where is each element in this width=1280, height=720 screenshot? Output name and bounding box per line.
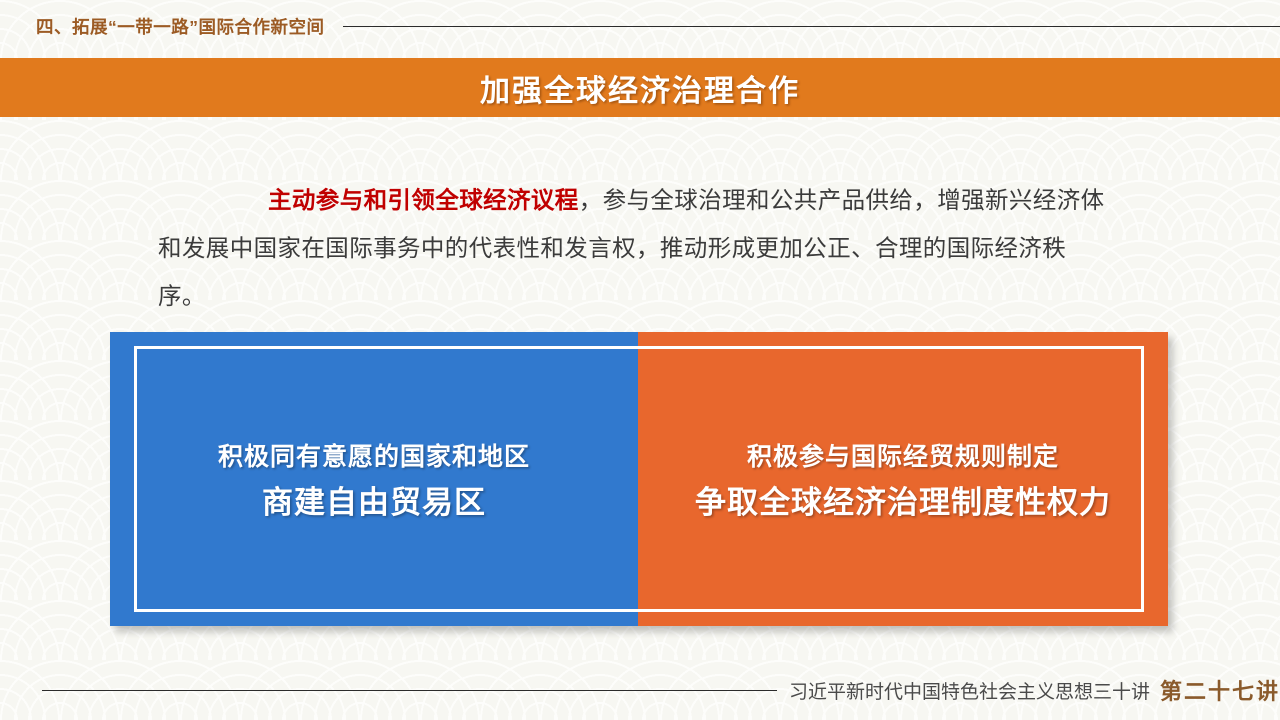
panel-left-headline: 商建自由贸易区 bbox=[262, 477, 486, 522]
page-title: 加强全球经济治理合作 bbox=[480, 66, 800, 110]
key-points-banner: 积极同有意愿的国家和地区 商建自由贸易区 积极参与国际经贸规则制定 争取全球经济… bbox=[110, 332, 1168, 626]
body-paragraph: 主动参与和引领全球经济议程，参与全球治理和公共产品供给，增强新兴经济体和发展中国… bbox=[158, 176, 1108, 320]
panel-global-governance-power[interactable]: 积极参与国际经贸规则制定 争取全球经济治理制度性权力 bbox=[638, 332, 1168, 626]
section-heading-text: 四、拓展“一带一路”国际合作新空间 bbox=[36, 14, 325, 39]
panel-right-headline: 争取全球经济治理制度性权力 bbox=[695, 477, 1111, 522]
footer-rule bbox=[42, 690, 777, 691]
panel-left-subtitle: 积极同有意愿的国家和地区 bbox=[218, 437, 530, 473]
panel-right-subtitle: 积极参与国际经贸规则制定 bbox=[747, 437, 1059, 473]
footer-lecture-number: 第二十七讲 bbox=[1160, 674, 1280, 706]
panel-free-trade-zone[interactable]: 积极同有意愿的国家和地区 商建自由贸易区 bbox=[110, 332, 638, 626]
footer-series-title: 习近平新时代中国特色社会主义思想三十讲 bbox=[789, 677, 1150, 704]
section-heading-rule bbox=[343, 26, 1280, 27]
presentation-slide: 四、拓展“一带一路”国际合作新空间 加强全球经济治理合作 主动参与和引领全球经济… bbox=[0, 0, 1280, 720]
slide-footer: 习近平新时代中国特色社会主义思想三十讲 第二十七讲 bbox=[0, 670, 1280, 710]
section-heading: 四、拓展“一带一路”国际合作新空间 bbox=[0, 6, 1280, 46]
body-highlight-text: 主动参与和引领全球经济议程 bbox=[268, 187, 579, 213]
title-band: 加强全球经济治理合作 bbox=[0, 58, 1280, 117]
